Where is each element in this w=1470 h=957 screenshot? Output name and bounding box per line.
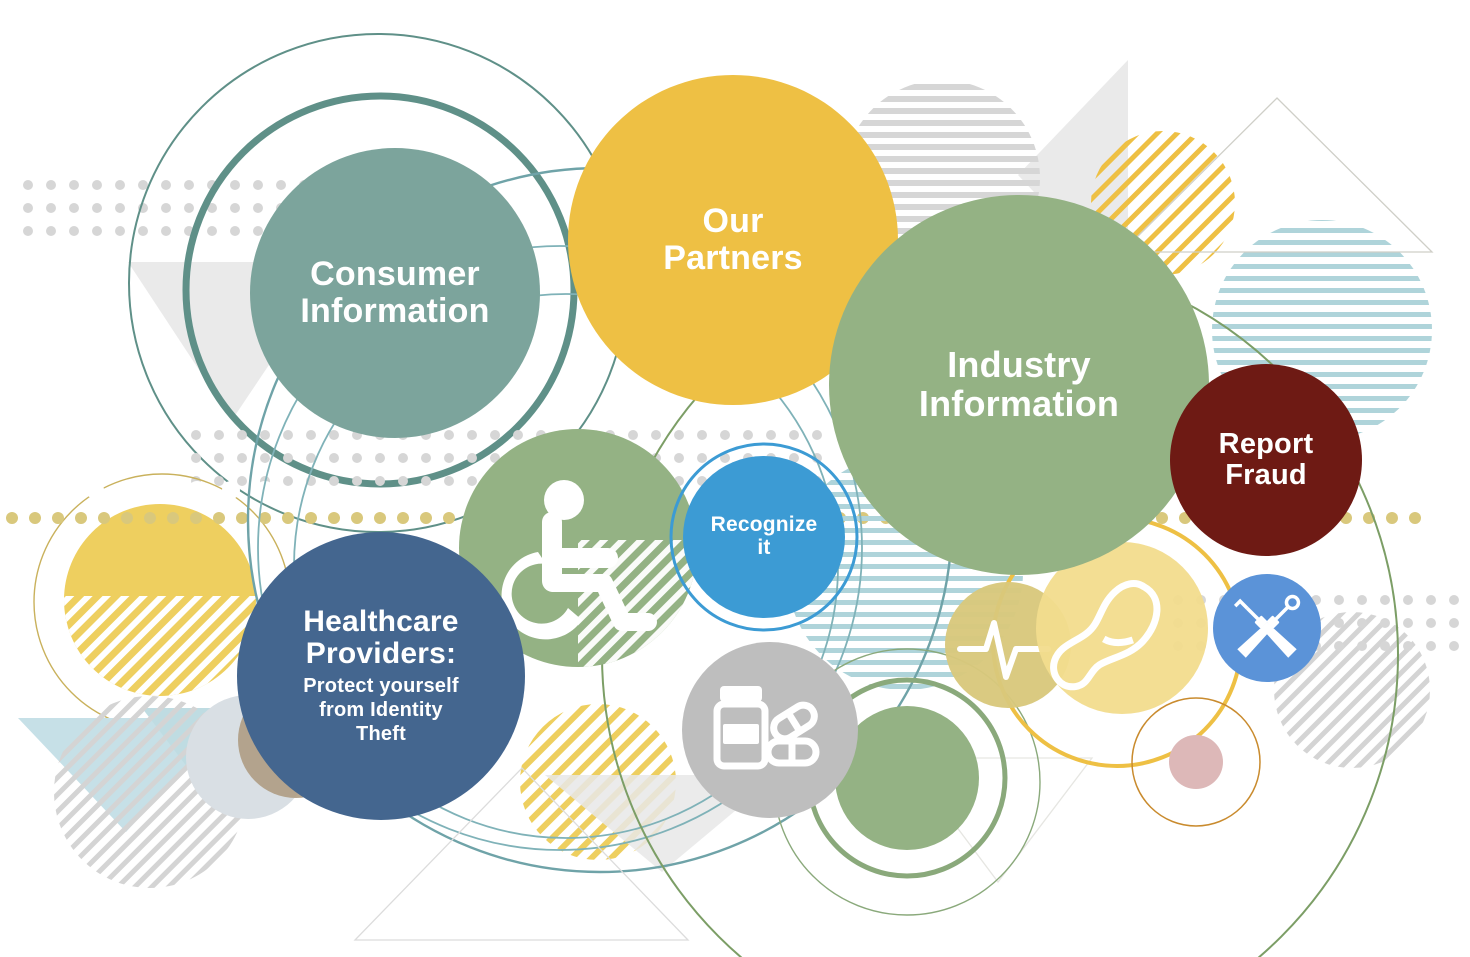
bubble-healthcare-providers[interactable]: Healthcare Providers: Protect yourself f… [237, 532, 525, 820]
bubble-label-line: Our [702, 202, 763, 240]
bubble-recognize-it[interactable]: Recognize it [683, 456, 845, 618]
infographic-canvas: Consumer Information Our Partners Indust… [0, 0, 1470, 957]
healthcare-heading-line: Healthcare [303, 605, 458, 638]
bubble-label-line: Fraud [1225, 459, 1307, 491]
healthcare-subtitle-line: Theft [303, 722, 458, 746]
bubble-label-line: Industry [947, 344, 1091, 385]
bubble-label-line: Consumer [310, 255, 480, 293]
healthcare-subtitle-line: from Identity [303, 698, 458, 722]
healthcare-subtitle-line: Protect yourself [303, 674, 458, 698]
bubble-label-line: Information [300, 292, 489, 330]
bubble-consumer-information[interactable]: Consumer Information [250, 148, 540, 438]
bubble-label-line: Information [919, 383, 1119, 424]
medication-icon-bubble[interactable] [682, 642, 858, 818]
bubble-label-line: it [757, 536, 770, 559]
bubble-report-fraud[interactable]: Report Fraud [1170, 364, 1362, 556]
healthcare-heading-line: Providers: [306, 637, 456, 670]
bubble-label-line: Report [1219, 428, 1314, 460]
bubble-label-line: Recognize [711, 513, 818, 536]
bubble-industry-information[interactable]: Industry Information [829, 195, 1209, 575]
bubble-label-line: Partners [663, 239, 803, 277]
